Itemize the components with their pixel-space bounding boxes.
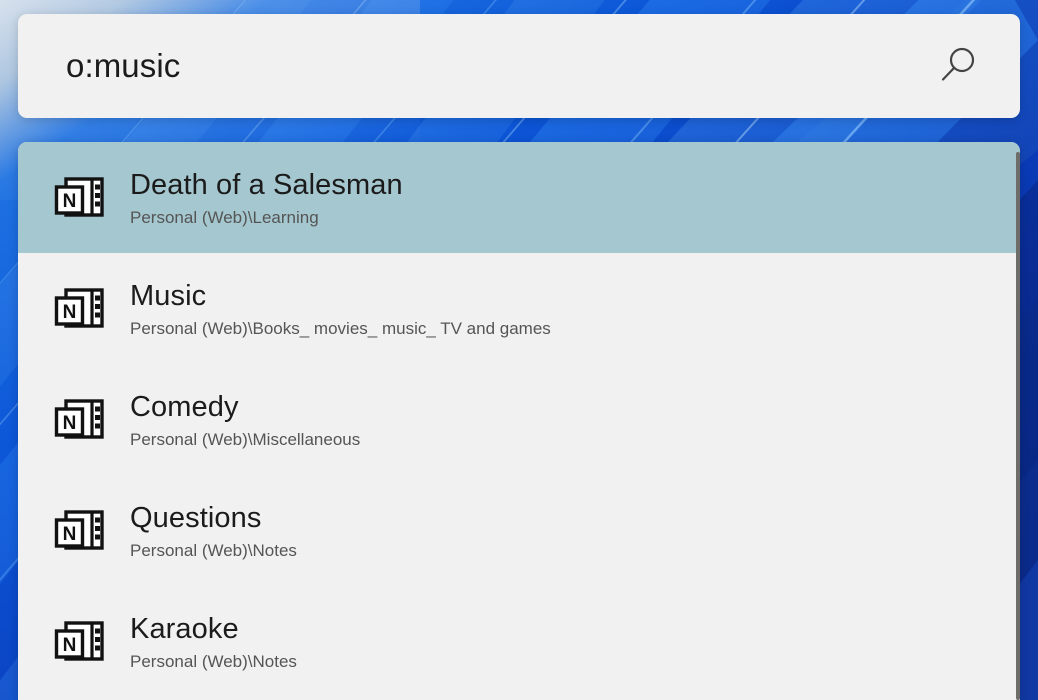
result-text: Death of a Salesman Personal (Web)\Learn… — [130, 168, 403, 228]
result-text: Music Personal (Web)\Books_ movies_ musi… — [130, 279, 551, 339]
result-title: Questions — [130, 501, 297, 535]
search-box[interactable]: o:music — [18, 14, 1020, 118]
result-text: Comedy Personal (Web)\Miscellaneous — [130, 390, 360, 450]
onenote-icon: N — [52, 281, 108, 337]
result-row[interactable]: N Comedy Personal (Web)\Miscellaneous — [18, 364, 1020, 475]
result-row[interactable]: N Death of a Salesman Personal (Web)\Lea… — [18, 142, 1020, 253]
svg-text:N: N — [63, 413, 77, 434]
result-text: Questions Personal (Web)\Notes — [130, 501, 297, 561]
desktop: o:music — [0, 0, 1038, 700]
result-title: Comedy — [130, 390, 360, 424]
result-subtitle: Personal (Web)\Books_ movies_ music_ TV … — [130, 318, 551, 339]
svg-text:N: N — [63, 635, 77, 656]
result-subtitle: Personal (Web)\Miscellaneous — [130, 429, 360, 450]
result-subtitle: Personal (Web)\Learning — [130, 207, 403, 228]
onenote-icon: N — [52, 614, 108, 670]
onenote-icon: N — [52, 392, 108, 448]
results-scrollbar-thumb[interactable] — [1016, 152, 1020, 700]
search-icon[interactable] — [930, 39, 984, 93]
onenote-icon: N — [52, 170, 108, 226]
search-input[interactable]: o:music — [66, 46, 930, 86]
svg-text:N: N — [63, 191, 77, 212]
result-row[interactable]: N Questions Personal (Web)\Notes — [18, 475, 1020, 586]
svg-text:N: N — [63, 302, 77, 323]
result-text: Karaoke Personal (Web)\Notes — [130, 612, 297, 672]
onenote-icon: N — [52, 503, 108, 559]
result-title: Karaoke — [130, 612, 297, 646]
result-title: Music — [130, 279, 551, 313]
result-row[interactable]: N Music Personal (Web)\Books_ movies_ mu… — [18, 253, 1020, 364]
search-results-panel: N Death of a Salesman Personal (Web)\Lea… — [18, 142, 1020, 700]
result-subtitle: Personal (Web)\Notes — [130, 651, 297, 672]
result-title: Death of a Salesman — [130, 168, 403, 202]
result-subtitle: Personal (Web)\Notes — [130, 540, 297, 561]
svg-text:N: N — [63, 524, 77, 545]
result-row[interactable]: N Karaoke Personal (Web)\Notes — [18, 586, 1020, 697]
